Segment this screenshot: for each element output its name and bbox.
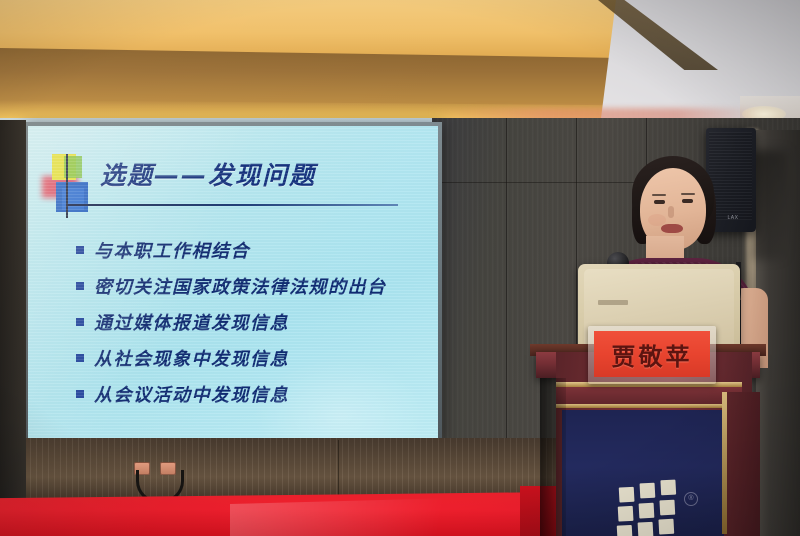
checker-grid-emblem	[619, 485, 680, 536]
laptop-brand-logo	[598, 300, 628, 305]
bullet-marker-icon	[76, 390, 84, 398]
podium-right-side	[724, 392, 760, 536]
speaker-brand-badge: LAX	[722, 215, 744, 222]
base-wall-seam	[338, 440, 339, 496]
base-wall-grain	[0, 438, 560, 498]
emblem-cell	[640, 483, 656, 499]
presenter-eye-right	[682, 199, 693, 203]
podium-gold-trim-bottom	[556, 404, 738, 408]
emblem-cell	[617, 525, 633, 536]
bullet-text: 从会议活动中发现信息	[94, 381, 289, 407]
emblem-cell	[659, 500, 675, 516]
slide-title: 选题——发现问题	[100, 156, 380, 200]
list-item: 通过媒体报道发现信息	[76, 310, 426, 334]
projection-screen: 选题——发现问题 与本职工作相结合 密切关注国家政策法律法规的出台 通过媒体报道…	[28, 126, 438, 438]
left-wall-dark-edge	[0, 120, 26, 498]
emblem-cell	[619, 487, 635, 503]
bullet-marker-icon	[76, 282, 84, 290]
slide-bullet-list: 与本职工作相结合 密切关注国家政策法律法规的出台 通过媒体报道发现信息 从社会现…	[76, 238, 426, 418]
nameplate-text: 贾敬苹	[612, 337, 693, 372]
list-item: 与本职工作相结合	[76, 238, 426, 262]
slide-title-underline	[68, 204, 398, 206]
bullet-text: 与本职工作相结合	[94, 237, 250, 263]
list-item: 密切关注国家政策法律法规的出台	[76, 274, 426, 298]
podium-gold-edge	[722, 392, 727, 534]
emblem-cell	[639, 503, 655, 519]
bullet-marker-icon	[76, 246, 84, 254]
podium-left-shadow	[540, 378, 566, 536]
list-item: 从社会现象中发现信息	[76, 346, 426, 370]
emblem-cell	[658, 519, 674, 535]
emblem-registered-mark: ®	[684, 492, 698, 506]
wall-speaker-shadow	[752, 150, 788, 260]
screenshot-root: LAX 选题——发现问题 与本职工作相结合 密切关注国家政策法律法规的出台	[0, 0, 800, 536]
emblem-cell	[618, 506, 634, 522]
wall-seam-vertical-2	[576, 118, 577, 358]
bullet-marker-icon	[76, 318, 84, 326]
presenter-mouth	[661, 224, 683, 233]
podium-bevel	[556, 386, 742, 406]
presenter-eyebrow-left	[652, 194, 666, 196]
emblem-cell	[660, 480, 676, 496]
presenter-eyebrow-right	[681, 193, 695, 195]
presenter-eye-left	[654, 200, 665, 204]
bullet-text: 密切关注国家政策法律法规的出台	[94, 273, 387, 299]
bullet-text: 通过媒体报道发现信息	[94, 309, 289, 335]
bullet-text: 从社会现象中发现信息	[94, 345, 289, 371]
nameplate: 贾敬苹	[594, 331, 710, 377]
emblem-cell	[638, 522, 654, 536]
decorative-square-logo	[42, 154, 98, 218]
list-item: 从会议活动中发现信息	[76, 382, 426, 406]
bullet-marker-icon	[76, 354, 84, 362]
presenter-nose	[668, 206, 674, 218]
logo-vertical-line	[66, 154, 68, 218]
